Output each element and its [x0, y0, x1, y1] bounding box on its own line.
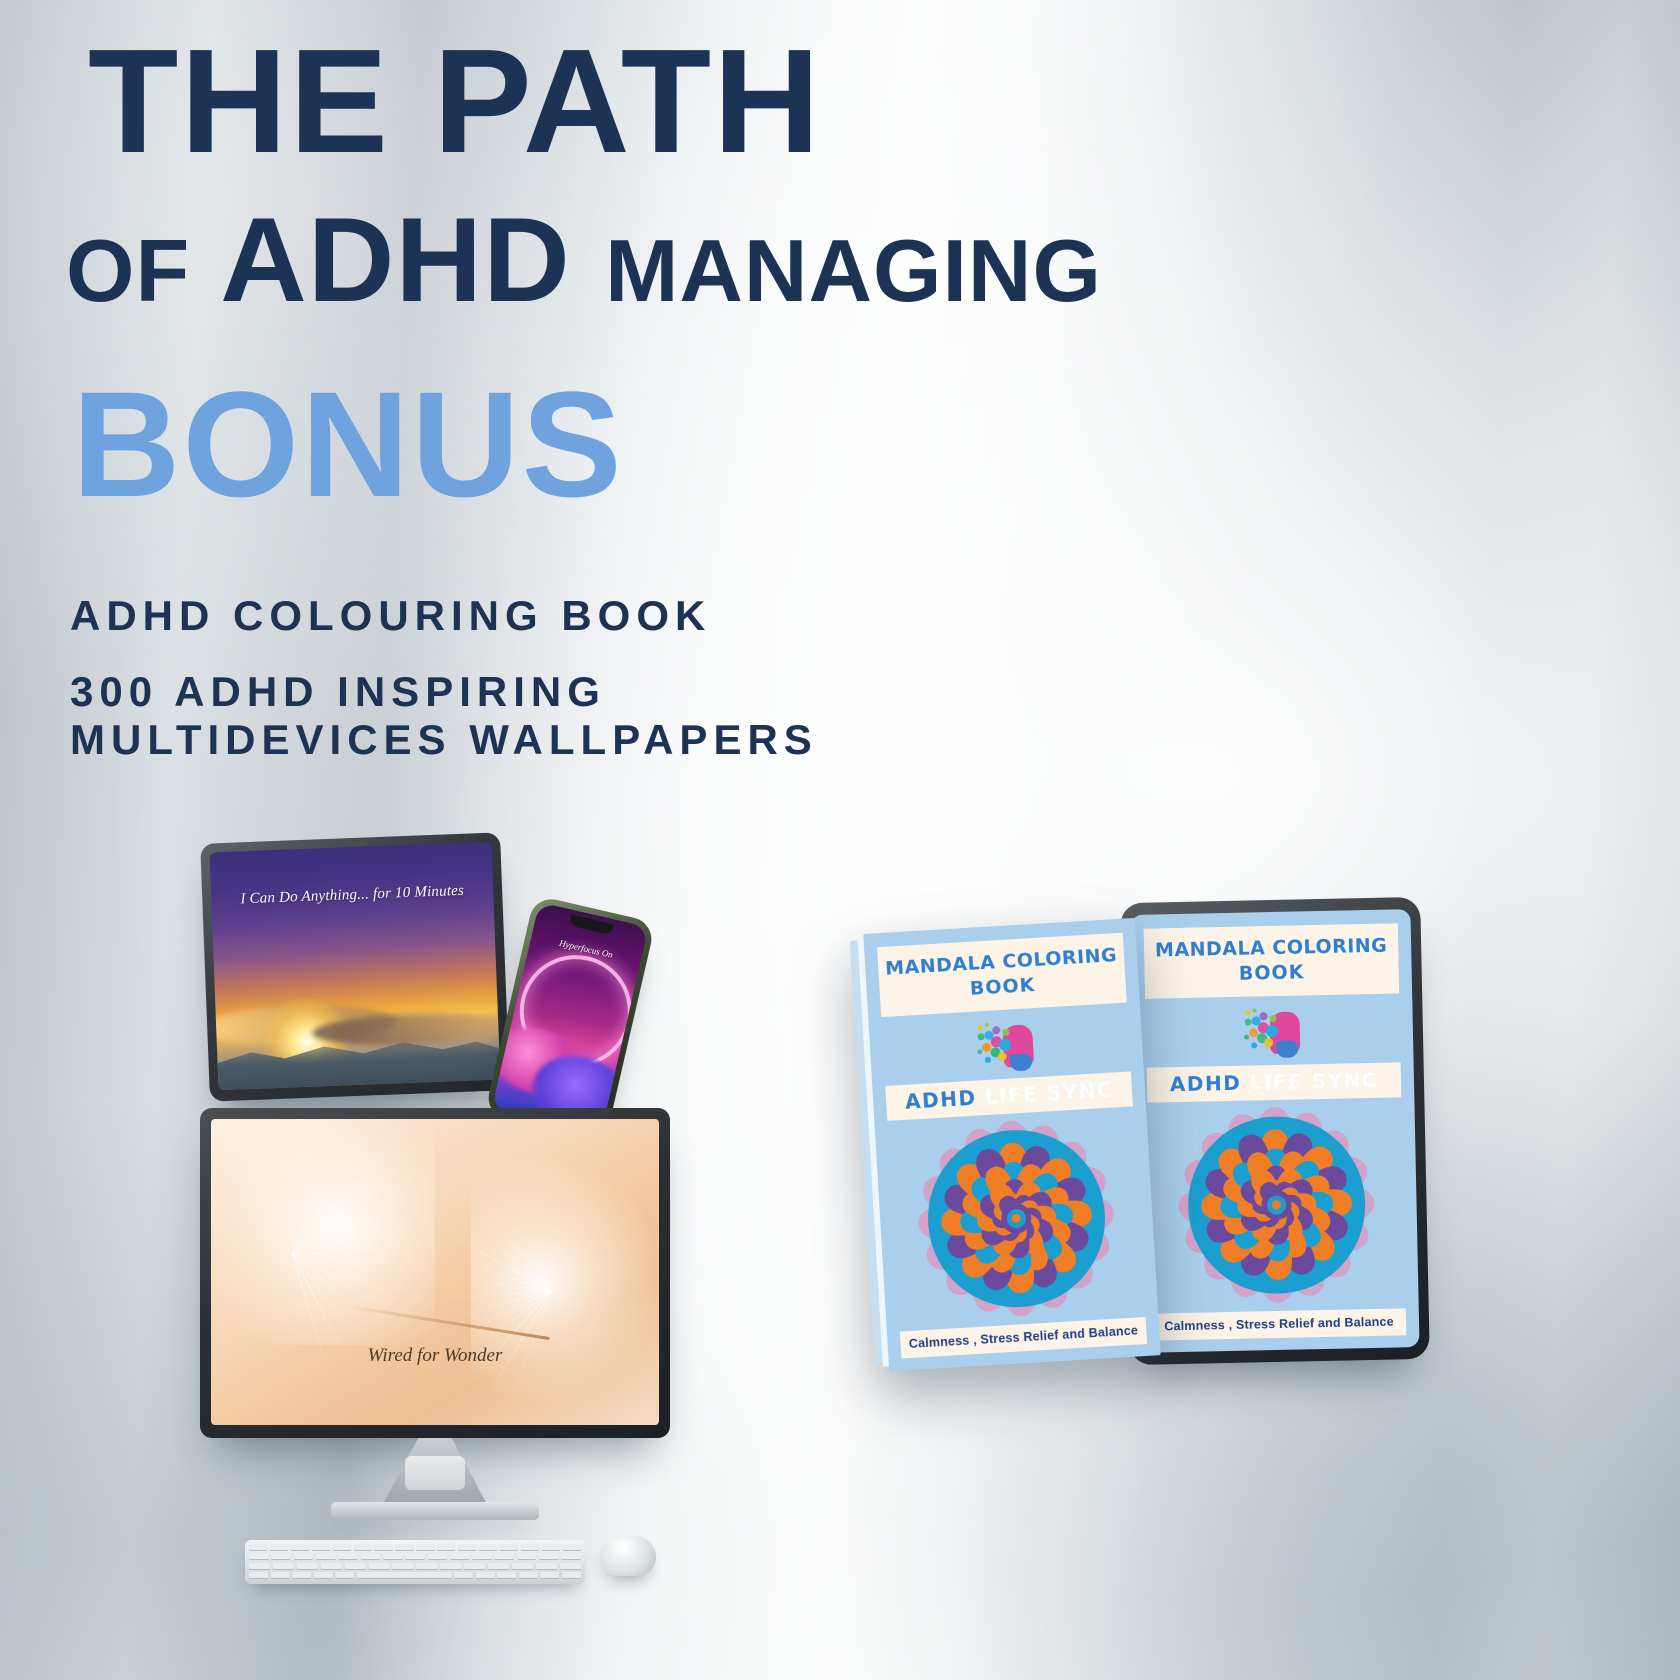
keyboard-key: [500, 1544, 518, 1551]
idea-bubble: [1244, 1035, 1249, 1040]
book-title-box: MANDALA COLORING BOOK: [877, 933, 1127, 1017]
keyboard-key: [333, 1544, 351, 1551]
headline-of: OF: [66, 221, 190, 320]
idea-bubble: [985, 1023, 989, 1027]
keyboard-key: [536, 1563, 557, 1570]
keyboard-key: [369, 1563, 390, 1570]
subhead-wallpapers-line-1: 300 ADHD INSPIRING: [70, 668, 606, 716]
keyboard-row: [249, 1563, 581, 1570]
idea-bubble: [977, 1049, 982, 1054]
idea-bubble: [1252, 1008, 1256, 1012]
keyboard-key: [563, 1544, 581, 1551]
mandala-illustration: [917, 1119, 1116, 1318]
keyboard-key: [361, 1553, 381, 1560]
headline-line-1: THE PATH: [88, 34, 822, 170]
keyboard-key: [416, 1563, 437, 1570]
keyboard-key: [292, 1572, 311, 1579]
keyboard-key: [374, 1544, 392, 1551]
keyboard-key: [416, 1544, 434, 1551]
ipad-cover-title-line-1: MANDALA COLORING: [1150, 935, 1392, 962]
headline-line-2: OF ADHD MANAGING: [66, 205, 1102, 315]
keyboard-key: [472, 1553, 492, 1560]
head-profile-icon: [1243, 1005, 1302, 1058]
keyboard-key: [249, 1563, 270, 1570]
keyboard-key: [561, 1553, 581, 1560]
keyboard-key: [519, 1572, 538, 1579]
keyboard-key: [454, 1572, 473, 1579]
mandala-illustration: [1181, 1109, 1373, 1301]
keyboard-key: [321, 1563, 342, 1570]
idea-bubble: [992, 1026, 1000, 1034]
idea-bubble: [985, 1057, 991, 1063]
mouse: [600, 1536, 656, 1576]
keyboard-key: [357, 1572, 452, 1579]
book-brand-lifesync: LIFE SYNC: [984, 1078, 1113, 1110]
monitor-stand-base: [331, 1502, 539, 1520]
idea-bubble: [1251, 1042, 1257, 1048]
book-cover-content: MANDALA COLORING BOOK ADHD LIFE SYNC Cal…: [863, 918, 1160, 1371]
idea-bubble: [978, 1025, 983, 1030]
keyboard-key: [297, 1563, 318, 1570]
keyboard-key: [440, 1563, 461, 1570]
keyboard-key: [488, 1563, 509, 1570]
keyboard-key: [450, 1553, 470, 1560]
keyboard-key: [517, 1553, 537, 1560]
ipad-tagline: Calmness , Stress Relief and Balance: [1154, 1314, 1404, 1333]
keyboard-key: [354, 1544, 372, 1551]
tablet-screen: I Can Do Anything... for 10 Minutes: [209, 842, 500, 1091]
book-brand-box: ADHD LIFE SYNC: [885, 1071, 1133, 1121]
keyboard-key: [335, 1572, 354, 1579]
keyboard-key: [395, 1544, 413, 1551]
ipad-brand: ADHD LIFE SYNC: [1149, 1067, 1399, 1096]
keyboard-key: [345, 1563, 366, 1570]
keyboard-key: [249, 1544, 267, 1551]
keyboard-key: [464, 1563, 485, 1570]
keyboard-key: [338, 1553, 358, 1560]
keyboard-key: [476, 1572, 495, 1579]
keyboard-key: [314, 1572, 333, 1579]
printed-book-cover: MANDALA COLORING BOOK ADHD LIFE SYNC Cal…: [849, 918, 1160, 1372]
keyboard-key: [428, 1553, 448, 1560]
keyboard-key: [494, 1553, 514, 1560]
book-tagline: Calmness , Stress Relief and Balance: [902, 1323, 1144, 1351]
ipad-brand-adhd: ADHD: [1170, 1071, 1242, 1096]
keyboard-key: [392, 1563, 413, 1570]
keyboard-key: [458, 1544, 476, 1551]
idea-bubble: [1260, 1012, 1268, 1020]
keyboard-row: [249, 1553, 581, 1560]
ipad-title-box: MANDALA COLORING BOOK: [1144, 923, 1399, 998]
tablet-mockup: I Can Do Anything... for 10 Minutes: [200, 832, 510, 1101]
keyboard-row: [249, 1572, 581, 1579]
keyboard-key: [562, 1572, 581, 1579]
keyboard-row: [249, 1544, 581, 1551]
keyboard-key: [273, 1563, 294, 1570]
keyboard-key: [271, 1553, 291, 1560]
ipad-brand-lifesync: LIFE SYNC: [1250, 1068, 1379, 1095]
keyboard-key: [316, 1553, 336, 1560]
keyboard-key: [249, 1572, 268, 1579]
headline-managing: MANAGING: [605, 221, 1102, 320]
ipad-screen: MANDALA COLORING BOOK ADHD LIFE SYNC Cal…: [1130, 909, 1419, 1353]
keyboard-key: [539, 1553, 559, 1560]
head-profile-icon: [976, 1018, 1037, 1073]
subhead-colouring-book: ADHD COLOURING BOOK: [70, 592, 711, 640]
ipad-cover-content: MANDALA COLORING BOOK ADHD LIFE SYNC Cal…: [1130, 909, 1419, 1353]
keyboard-key: [521, 1544, 539, 1551]
keyboard-key: [560, 1563, 581, 1570]
keyboard-key: [271, 1572, 290, 1579]
keyboard-key: [249, 1553, 269, 1560]
bonus-heading: BONUS: [72, 375, 624, 513]
book-tagline-box: Calmness , Stress Relief and Balance: [900, 1317, 1147, 1359]
idea-bubble: [1245, 1011, 1250, 1016]
subhead-wallpapers-line-2: MULTIDEVICES WALLPAPERS: [70, 716, 818, 764]
keyboard: [245, 1540, 585, 1584]
keyboard-key: [512, 1563, 533, 1570]
keyboard-key: [270, 1544, 288, 1551]
keyboard-key: [437, 1544, 455, 1551]
monitor-stand-hinge: [405, 1456, 465, 1490]
ipad-tagline-box: Calmness , Stress Relief and Balance: [1152, 1308, 1407, 1340]
keyboard-key: [497, 1572, 516, 1579]
tablet-wallpaper-quote: I Can Do Anything... for 10 Minutes: [211, 882, 493, 910]
desktop-monitor-mockup: Wired for Wonder: [200, 1108, 670, 1438]
head-jaw: [1010, 1053, 1033, 1071]
keyboard-key: [383, 1553, 403, 1560]
ipad-mockup: MANDALA COLORING BOOK ADHD LIFE SYNC Cal…: [1120, 897, 1430, 1365]
monitor-wallpaper-quote: Wired for Wonder: [211, 1345, 659, 1367]
keyboard-key: [291, 1544, 309, 1551]
ipad-brand-box: ADHD LIFE SYNC: [1147, 1062, 1402, 1102]
keyboard-key: [294, 1553, 314, 1560]
keyboard-key: [479, 1544, 497, 1551]
keyboard-key: [312, 1544, 330, 1551]
book-brand-adhd: ADHD: [904, 1086, 977, 1114]
head-jaw: [1276, 1041, 1298, 1058]
headline-adhd: ADHD: [220, 193, 571, 327]
keyboard-key: [542, 1544, 560, 1551]
keyboard-key: [405, 1553, 425, 1560]
book-brand: ADHD LIFE SYNC: [888, 1077, 1131, 1115]
phone-notch: [569, 915, 614, 936]
book-front-cover: MANDALA COLORING BOOK ADHD LIFE SYNC Cal…: [863, 918, 1160, 1371]
keyboard-key: [540, 1572, 559, 1579]
monitor-screen: Wired for Wonder: [211, 1119, 659, 1425]
ipad-cover-title-line-2: BOOK: [1150, 960, 1392, 987]
